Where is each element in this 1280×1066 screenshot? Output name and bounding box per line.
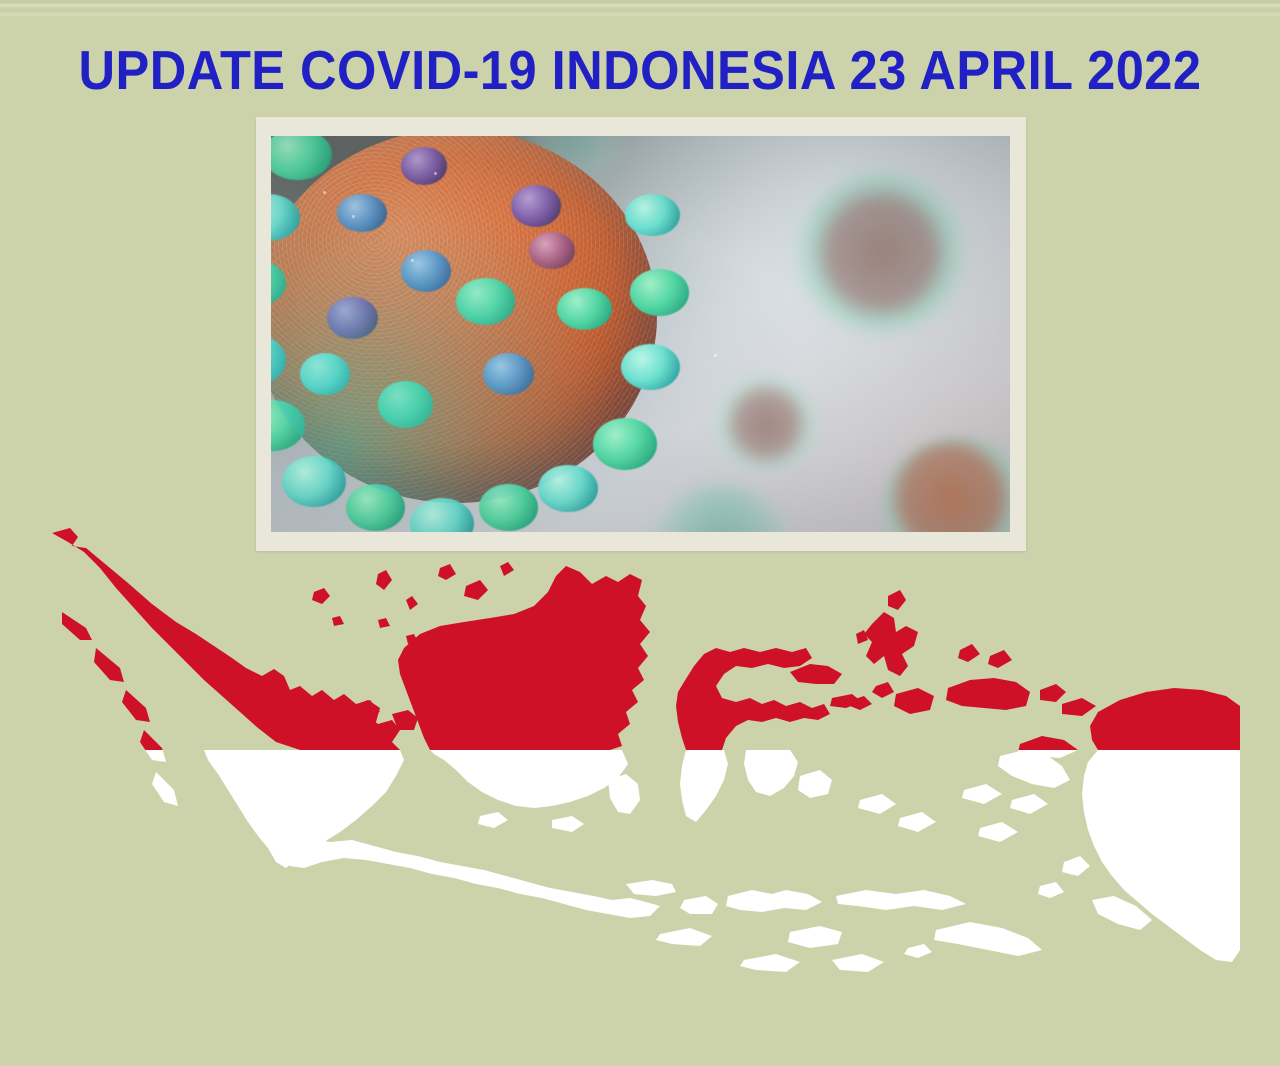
map-flag-red-band <box>52 528 1240 972</box>
virus-photo <box>271 136 1010 532</box>
map-flag-white-band <box>52 528 1240 972</box>
top-edge-rule-4 <box>0 13 1280 16</box>
page-title: UPDATE COVID-19 INDONESIA 23 APRIL 2022 <box>51 40 1229 100</box>
photo-vignette <box>271 136 1010 532</box>
poster-canvas: UPDATE COVID-19 INDONESIA 23 APRIL 2022 <box>0 0 1280 1066</box>
virus-photo-frame <box>256 117 1026 551</box>
top-edge-rule-1 <box>0 0 1280 3</box>
top-edge-rule-3 <box>0 9 1280 11</box>
top-edge-rule-2 <box>0 4 1280 7</box>
